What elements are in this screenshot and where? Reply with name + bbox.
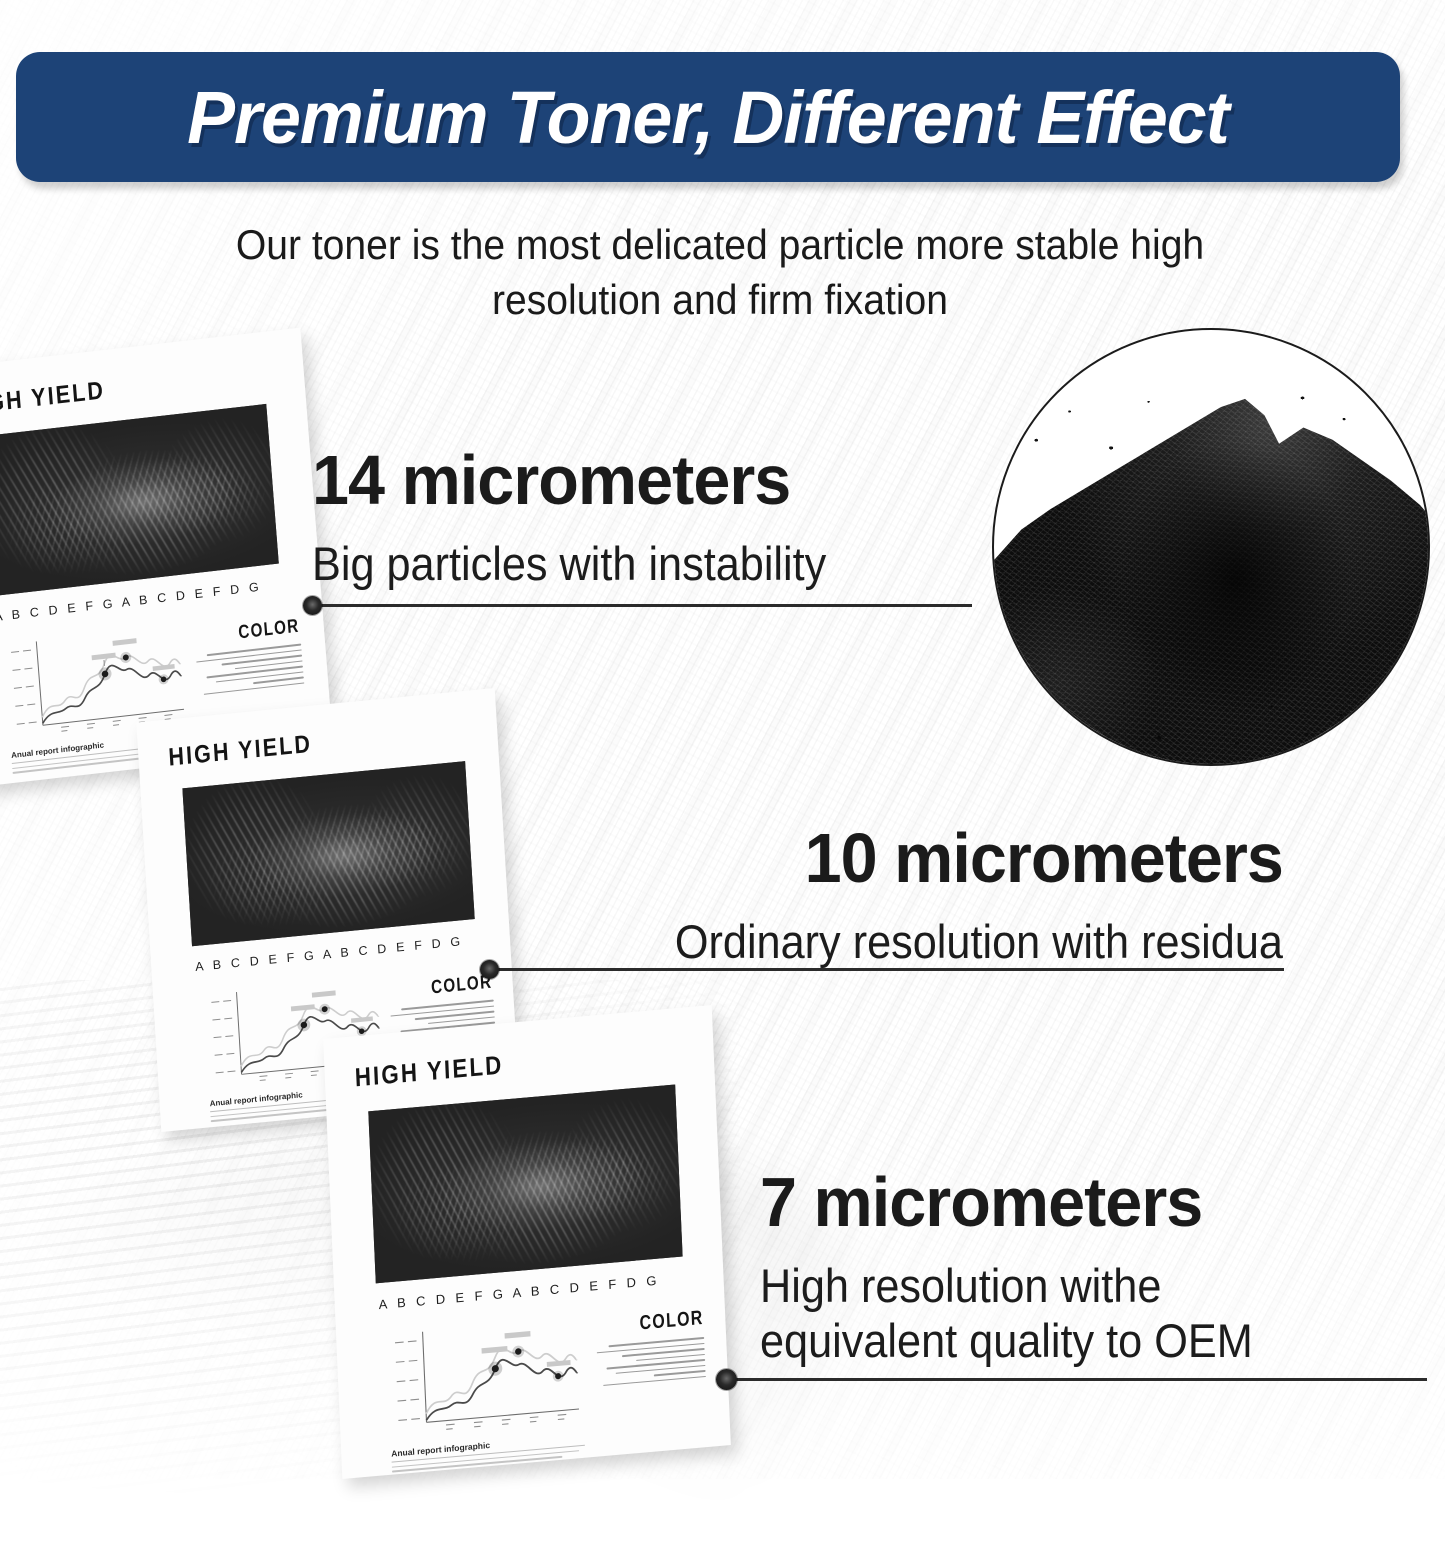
sheet-title: HIGH YIELD xyxy=(354,1049,504,1093)
connector-dot-1 xyxy=(303,596,322,615)
printed-sheet-3: HIGH YIELD A B C D E F G A B C D E F D G xyxy=(323,1005,731,1479)
sheet-color-textlines xyxy=(192,644,305,700)
sheet-caption: Anual report infographic xyxy=(391,1432,585,1476)
powder-top-scatter xyxy=(1003,373,1420,468)
sheet-color-textlines xyxy=(593,1337,706,1391)
sheet-color-heading: COLOR xyxy=(639,1307,704,1336)
header-banner: Premium Toner, Different Effect xyxy=(16,52,1400,182)
silk-texture-2 xyxy=(182,761,474,946)
spec-description-line1: High resolution withe xyxy=(760,1258,1253,1313)
sheet-photo xyxy=(368,1084,682,1283)
toner-powder-photo xyxy=(992,328,1430,766)
connector-line-1 xyxy=(312,604,972,607)
connector-dot-3 xyxy=(716,1369,737,1390)
sheet-chart xyxy=(386,1314,584,1441)
spec-value: 10 micrometers xyxy=(655,818,1283,898)
sheet-photo xyxy=(182,761,474,946)
sheet-title: HIGH YIELD xyxy=(168,730,313,773)
silk-texture-2 xyxy=(0,404,279,596)
connector-dot-2 xyxy=(480,960,499,979)
spec-row-2: 10 micrometers Ordinary resolution with … xyxy=(622,818,1283,969)
sheet-photo xyxy=(0,404,279,596)
powder-bottom-scatter xyxy=(994,677,1428,764)
sheet-color-heading: COLOR xyxy=(238,616,301,645)
silk-texture-2 xyxy=(368,1084,682,1283)
spec-value: 7 micrometers xyxy=(760,1162,1269,1242)
spec-row-1: 14 micrometers Big particles with instab… xyxy=(312,440,871,591)
banner-title: Premium Toner, Different Effect xyxy=(187,75,1229,160)
spec-description-line2: equivalent quality to OEM xyxy=(760,1313,1253,1368)
powder-image xyxy=(994,330,1428,764)
spec-row-3: 7 micrometers High resolution withe equi… xyxy=(760,1162,1296,1369)
spec-description: Ordinary resolution with residua xyxy=(675,914,1283,969)
subtitle-text: Our toner is the most delicated particle… xyxy=(153,218,1288,327)
spec-value: 14 micrometers xyxy=(312,440,843,520)
spec-description: Big particles with instability xyxy=(312,536,826,591)
connector-line-3 xyxy=(727,1378,1427,1381)
sheet-title: HIGH YIELD xyxy=(0,376,106,421)
